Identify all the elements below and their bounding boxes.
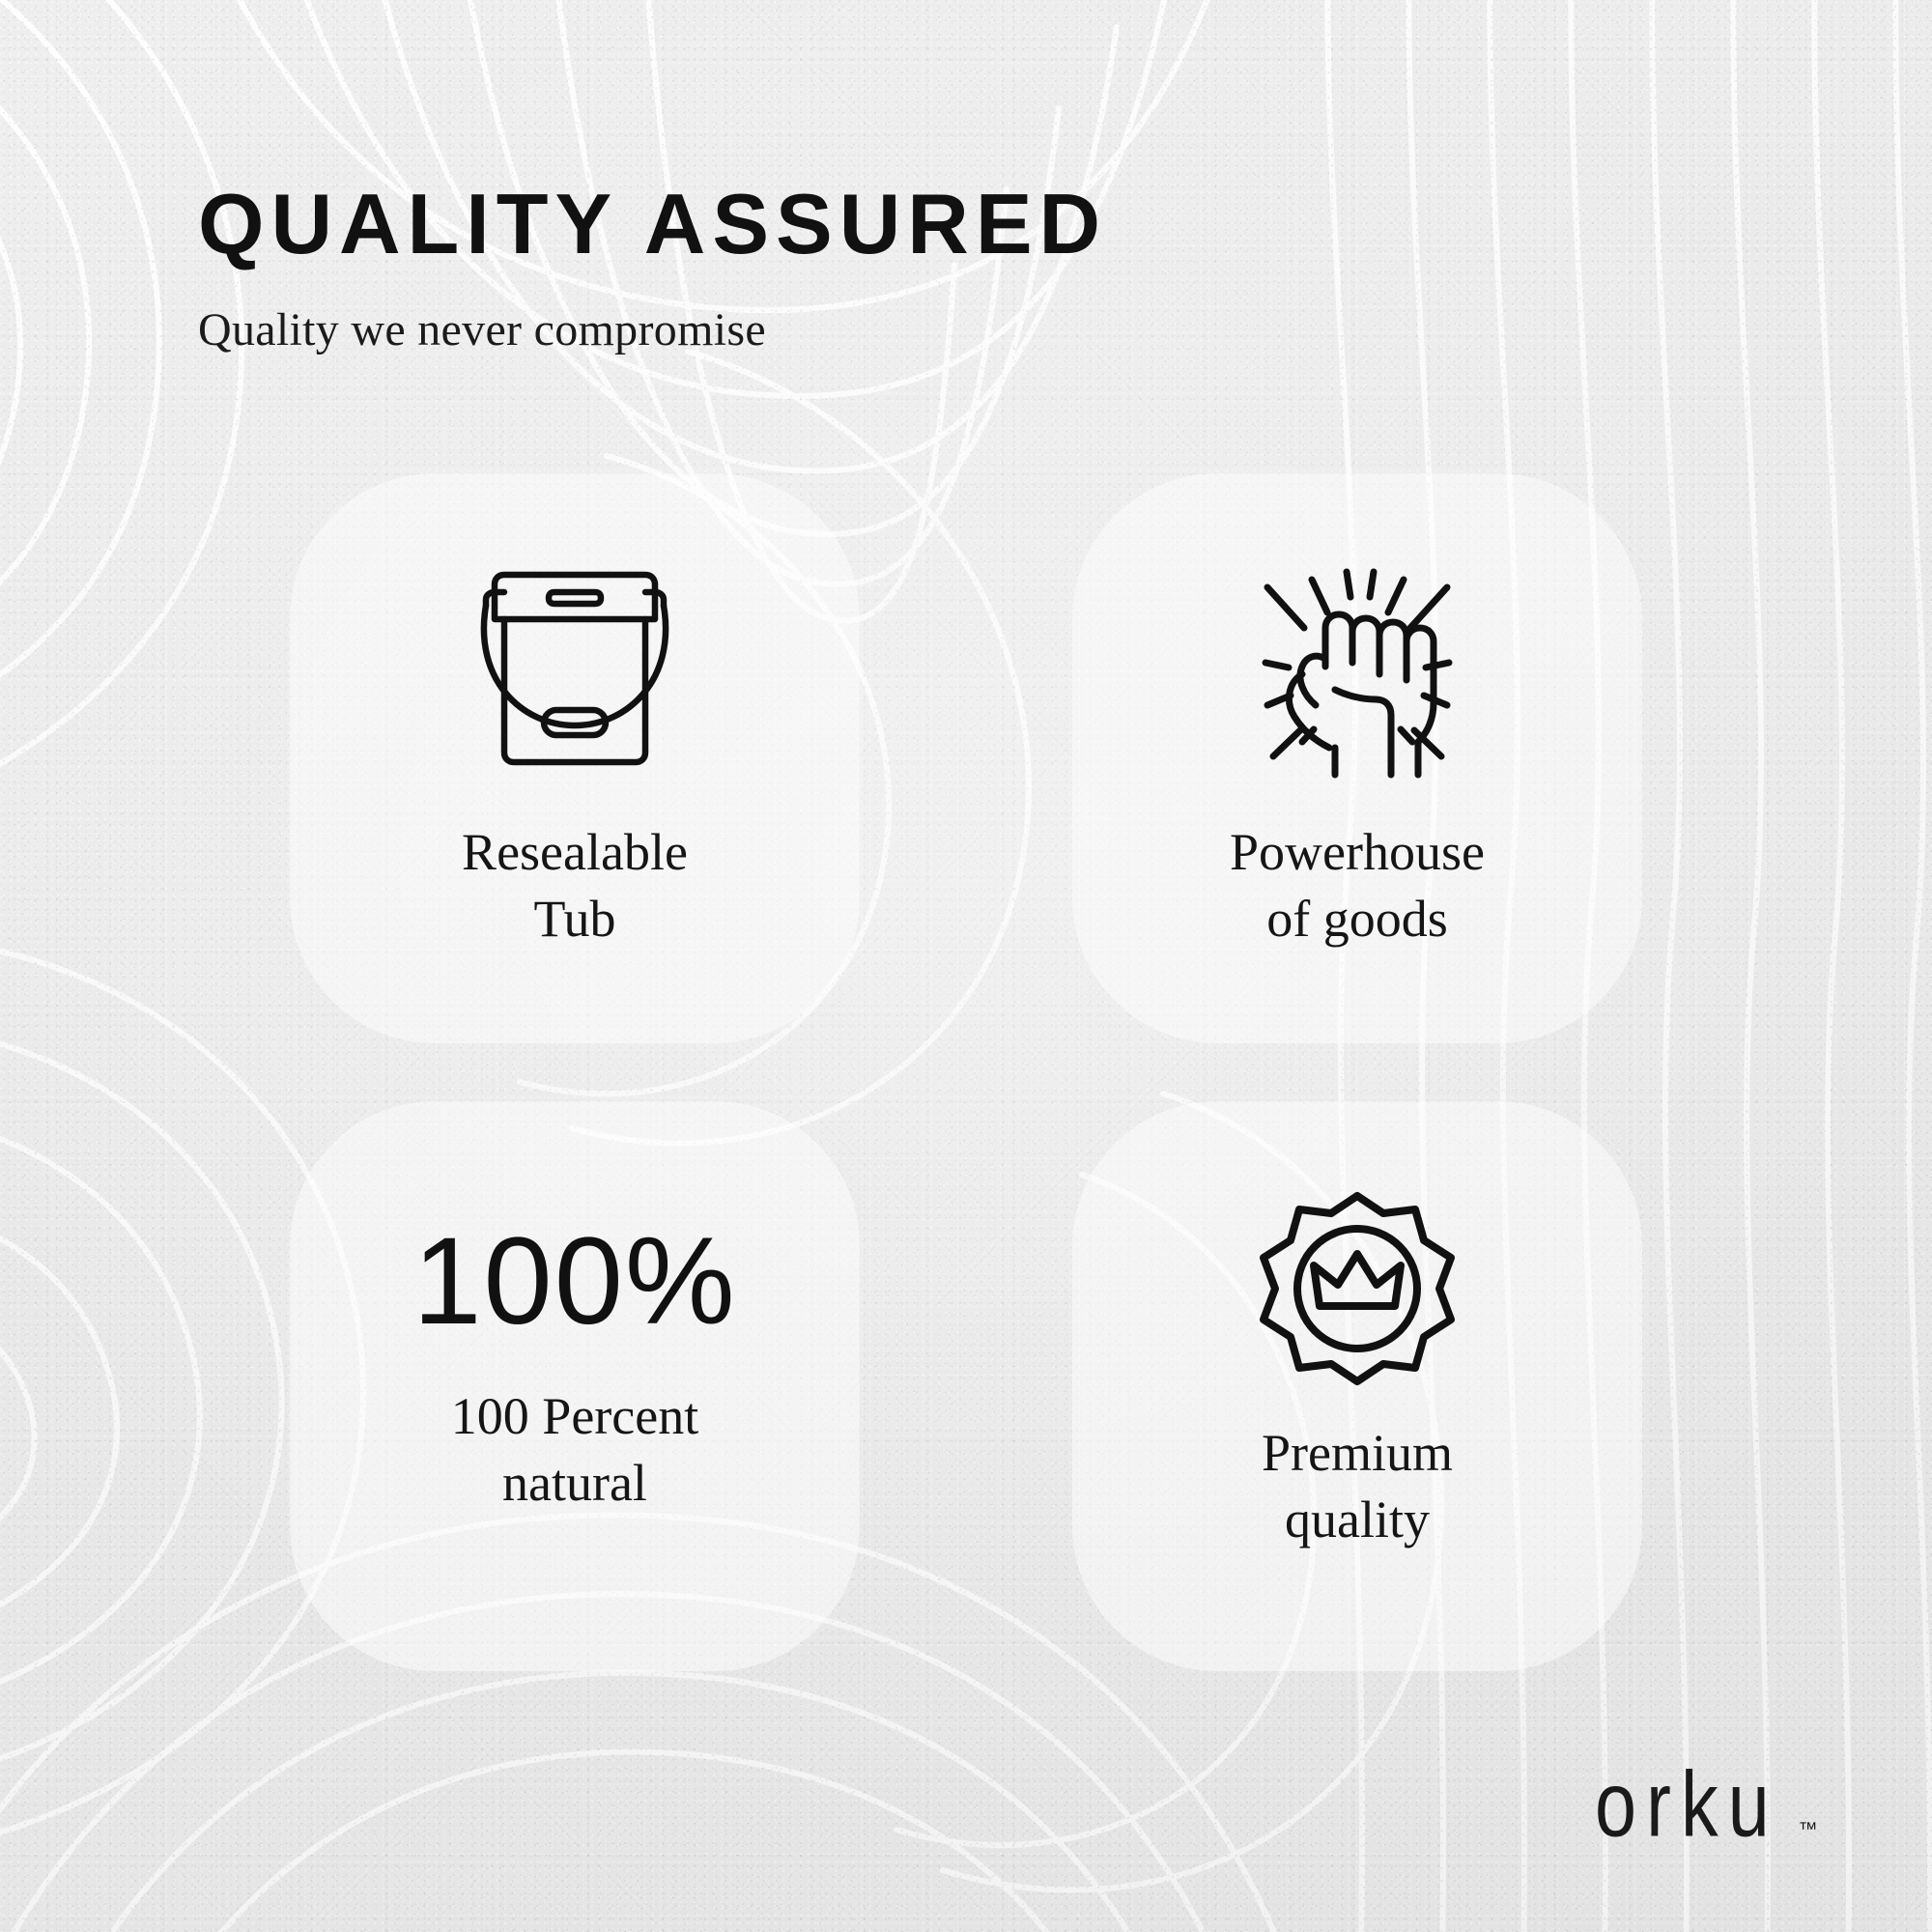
feature-card-premium-quality[interactable]: Premium quality [1072, 1101, 1642, 1671]
page-title: QUALITY ASSURED [198, 182, 1357, 267]
feature-card-label: Powerhouse of goods [1230, 819, 1485, 952]
tub-icon [454, 529, 696, 810]
header-block: QUALITY ASSURED Quality we never comprom… [198, 182, 1357, 356]
crown-badge-icon [1256, 1169, 1459, 1410]
feature-grid: Resealable Tub [290, 473, 1642, 1671]
fist-burst-icon [1246, 529, 1468, 810]
percent-100-text-icon: 100% [412, 1190, 736, 1374]
percent-100-value: 100% [412, 1220, 736, 1344]
feature-label-line2: of goods [1230, 886, 1485, 952]
feature-label-line2: natural [451, 1450, 698, 1517]
feature-card-100-percent-natural[interactable]: 100% 100 Percent natural [290, 1101, 860, 1671]
trademark-symbol: ™ [1799, 1819, 1819, 1841]
feature-label-line2: quality [1262, 1487, 1453, 1553]
feature-card-label: 100 Percent natural [451, 1383, 698, 1517]
quality-assured-infographic: QUALITY ASSURED Quality we never comprom… [0, 0, 1932, 1932]
feature-label-line1: 100 Percent [451, 1383, 698, 1450]
brand-wordmark: orku [1595, 1762, 1779, 1847]
feature-label-line1: Resealable [462, 819, 688, 886]
feature-card-label: Resealable Tub [462, 819, 688, 952]
feature-card-label: Premium quality [1262, 1420, 1453, 1553]
feature-card-resealable-tub[interactable]: Resealable Tub [290, 473, 860, 1043]
page-subtitle: Quality we never compromise [198, 303, 1357, 356]
feature-label-line1: Powerhouse [1230, 819, 1485, 886]
feature-label-line1: Premium [1262, 1420, 1453, 1487]
brand-logo: orku ™ [1595, 1773, 1818, 1847]
feature-card-powerhouse-of-goods[interactable]: Powerhouse of goods [1072, 473, 1642, 1043]
feature-label-line2: Tub [462, 886, 688, 952]
